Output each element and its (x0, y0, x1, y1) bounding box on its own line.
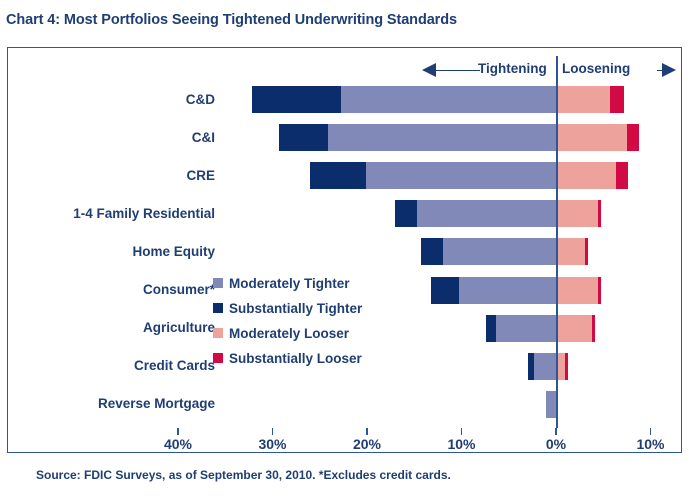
bar-segment-substantially-looser (585, 238, 588, 265)
legend-label: Moderately Looser (229, 321, 349, 346)
bar-segment-moderately-tighter (341, 86, 556, 113)
axis-tick-label: 30% (258, 436, 286, 452)
axis-tick-label: 10% (636, 436, 664, 452)
bar-segment-moderately-looser (556, 162, 616, 189)
bar-row (0, 200, 689, 227)
axis-tick-mark (461, 428, 462, 435)
bar-segment-substantially-tighter (279, 124, 328, 151)
bar-row (0, 162, 689, 189)
bar-segment-moderately-tighter (546, 391, 556, 418)
bar-segment-substantially-tighter (310, 162, 366, 189)
legend-item[interactable]: Moderately Tighter (213, 271, 403, 296)
bar-segment-substantially-looser (592, 315, 595, 342)
legend-item[interactable]: Substantially Tighter (213, 296, 403, 321)
bar-segment-substantially-tighter (421, 238, 443, 265)
bar-segment-moderately-tighter (443, 238, 556, 265)
bar-segment-moderately-looser (556, 86, 610, 113)
chart-legend: Moderately TighterSubstantially TighterM… (213, 271, 403, 371)
tightening-label: Tightening (478, 61, 547, 76)
source-note: Source: FDIC Surveys, as of September 30… (36, 468, 451, 482)
bar-segment-substantially-looser (598, 277, 602, 304)
bar-segment-substantially-tighter (395, 200, 417, 227)
legend-swatch-icon (213, 303, 223, 313)
bar-segment-substantially-looser (565, 353, 568, 380)
axis-tick-label: 20% (353, 436, 381, 452)
arrow-right-icon (662, 63, 676, 77)
axis-tick-mark (366, 428, 367, 435)
bar-segment-moderately-looser (556, 238, 585, 265)
bar-segment-substantially-tighter (486, 315, 496, 342)
loosening-label: Loosening (562, 61, 630, 76)
bar-segment-moderately-tighter (328, 124, 556, 151)
page-title: Chart 4: Most Portfolios Seeing Tightene… (6, 12, 457, 28)
arrow-left-line (434, 70, 480, 72)
axis-tick-label: 10% (447, 436, 475, 452)
legend-swatch-icon (213, 278, 223, 288)
axis-tick-label: 0% (546, 436, 566, 452)
legend-item[interactable]: Substantially Looser (213, 346, 403, 371)
axis-tick-label: 40% (164, 436, 192, 452)
bar-segment-moderately-looser (556, 315, 592, 342)
bar-segment-substantially-tighter (252, 86, 341, 113)
bar-segment-moderately-tighter (417, 200, 556, 227)
chart-page: Chart 4: Most Portfolios Seeing Tightene… (0, 0, 689, 499)
bar-segment-moderately-tighter (459, 277, 556, 304)
x-axis: 40%30%20%10%0%10% (0, 428, 689, 456)
bar-segment-substantially-looser (627, 124, 639, 151)
axis-tick-mark (555, 428, 556, 435)
bar-segment-moderately-looser (556, 200, 598, 227)
legend-swatch-icon (213, 328, 223, 338)
bar-segment-substantially-tighter (528, 353, 535, 380)
bar-row (0, 238, 689, 265)
bar-segment-moderately-tighter (366, 162, 556, 189)
bar-segment-moderately-tighter (534, 353, 556, 380)
axis-tick-mark (177, 428, 178, 435)
axis-tick-mark (272, 428, 273, 435)
bar-row (0, 86, 689, 113)
zero-reference-line (556, 56, 558, 428)
bar-segment-substantially-looser (598, 200, 602, 227)
legend-swatch-icon (213, 353, 223, 363)
legend-label: Moderately Tighter (229, 271, 350, 296)
legend-item[interactable]: Moderately Looser (213, 321, 403, 346)
bar-segment-substantially-looser (616, 162, 627, 189)
bar-segment-moderately-looser (556, 124, 627, 151)
legend-label: Substantially Tighter (229, 296, 362, 321)
legend-label: Substantially Looser (229, 346, 362, 371)
bar-row (0, 391, 689, 418)
axis-tick-mark (650, 428, 651, 435)
bar-segment-moderately-tighter (496, 315, 556, 342)
bar-segment-moderately-looser (556, 277, 598, 304)
bars-plot-area (0, 84, 689, 424)
bar-segment-substantially-looser (610, 86, 624, 113)
direction-header: Tightening Loosening (410, 59, 678, 83)
bar-row (0, 124, 689, 151)
bar-segment-substantially-tighter (431, 277, 458, 304)
